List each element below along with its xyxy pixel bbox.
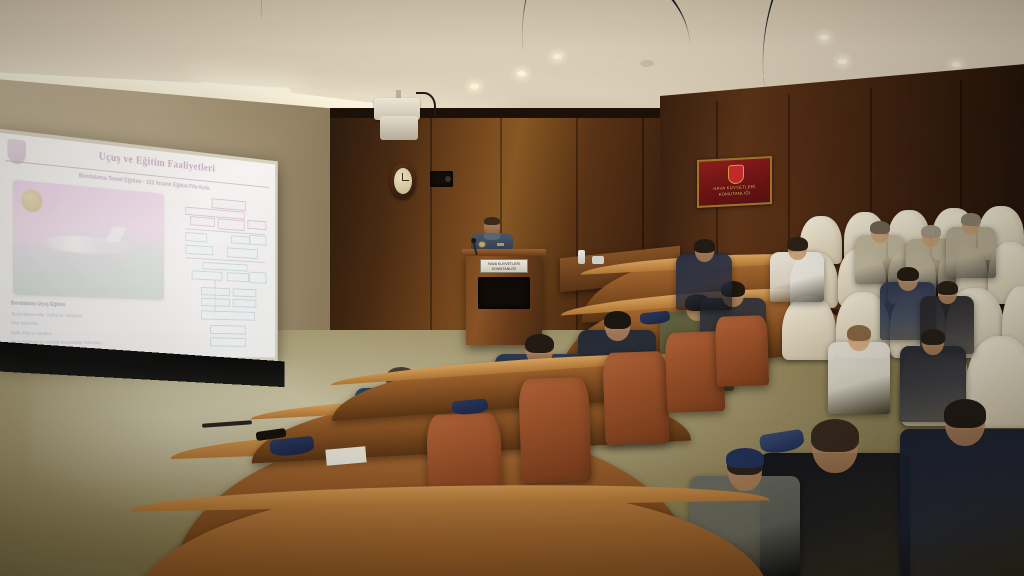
wall-clock: [390, 163, 416, 199]
leather-chair: [518, 377, 592, 483]
audience-member: [676, 240, 732, 310]
ceiling-light: [553, 54, 562, 59]
leather-chair: [715, 315, 769, 387]
auditorium-photo: HAVA KUVVETLERİ KOMUTANLIĞI Uçuş ve Eğit…: [0, 0, 1024, 576]
person-hair: [694, 239, 715, 253]
audience-member: [770, 238, 824, 302]
squadron-emblem-icon: [21, 188, 42, 212]
person-hair: [937, 281, 958, 295]
ceiling-vent: [640, 60, 654, 67]
person-hair: [944, 399, 986, 428]
ceiling-light: [952, 62, 961, 67]
water-bottle: [578, 250, 585, 264]
podium-nameplate: HAVA KUVVETLERİ KOMUTANLIĞI: [480, 259, 528, 273]
wall-plaque: HAVA KUVVETLERİ KOMUTANLIĞI: [697, 156, 772, 208]
slide-bullet: Kritik İrtifa ve Alçalma: [11, 330, 185, 338]
audience-member: [946, 214, 996, 278]
slide-bullet: Pilot Görevleri: [11, 320, 185, 329]
person-hair: [525, 334, 554, 353]
podium-nameplate-line-2: KOMUTANLIĞI: [481, 266, 527, 272]
slide-flow-diagram: [184, 196, 268, 355]
slide-bullet-list: Bordalama Uçuş Eğitimi Temel Manevralar,…: [11, 301, 185, 351]
crest-icon: [728, 165, 744, 185]
ceiling-light: [838, 59, 847, 64]
person-hair: [961, 213, 981, 226]
person-torso: [900, 429, 1024, 576]
presentation-slide: Uçuş ve Eğitim Faaliyetleri Bordalama Te…: [0, 132, 275, 357]
ceiling-light: [470, 84, 479, 89]
audience-member: [900, 400, 1024, 576]
person-hair: [921, 329, 945, 345]
slide-bullet: Temel Manevralar, Kalkış ve Yaklaşma: [11, 311, 185, 320]
paper-stack: [592, 256, 604, 264]
audience-member: [828, 326, 890, 414]
wall-speaker: [430, 171, 453, 187]
person-cap: [726, 448, 764, 468]
projection-screen: Uçuş ve Eğitim Faaliyetleri Bordalama Te…: [0, 128, 278, 361]
person-hair: [870, 221, 890, 234]
person-hair: [847, 325, 871, 341]
person-torso: [828, 342, 890, 414]
ceiling-light: [517, 71, 526, 76]
slide-bullet: Bordalama Uçuş Eğitimi: [11, 301, 185, 312]
person-hair: [921, 225, 941, 238]
leather-chair: [602, 351, 669, 445]
person-hair: [787, 237, 808, 251]
name-tag-icon: [497, 243, 504, 246]
person-hair: [897, 267, 919, 281]
person-torso: [676, 254, 732, 310]
ceiling-projector: [372, 90, 438, 136]
aircraft-tail-shape: [106, 227, 127, 242]
ceiling-light: [820, 35, 829, 40]
person-hair: [811, 419, 859, 452]
rank-insignia-icon: [479, 242, 485, 247]
person-hair: [604, 311, 631, 329]
slide-photo: [13, 180, 164, 300]
speaker-podium: HAVA KUVVETLERİ KOMUTANLIĞI: [466, 253, 542, 345]
